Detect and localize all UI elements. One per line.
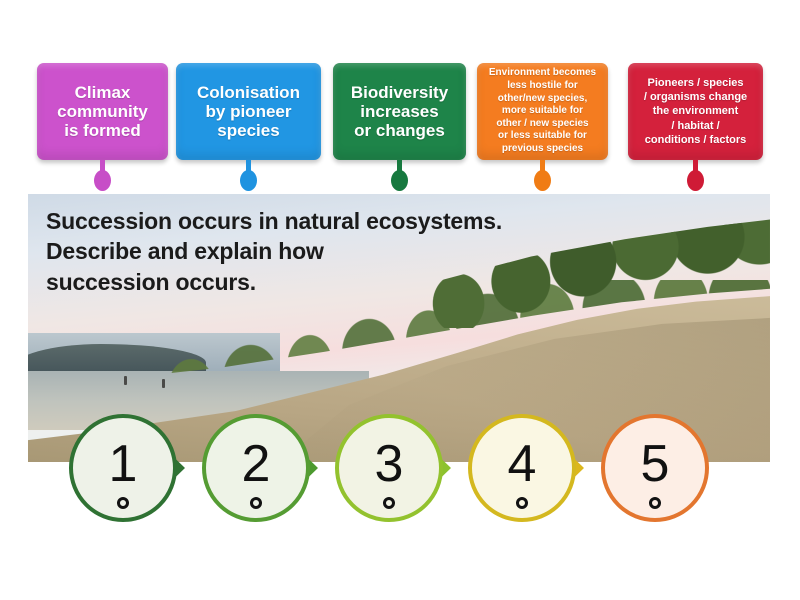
activity-stage: Succession occurs in natural ecosystems.…	[0, 0, 800, 600]
answer-marker-icon	[649, 497, 661, 509]
answer-marker-icon	[117, 497, 129, 509]
answer-marker-icon	[383, 497, 395, 509]
label-text: Climax community is formed	[43, 83, 162, 140]
drop-slot-2[interactable]: 2	[202, 414, 310, 522]
photo-person	[162, 379, 165, 388]
pin-head	[391, 170, 408, 191]
pin-head	[94, 170, 111, 191]
slot-number: 2	[242, 438, 271, 490]
drop-slot-4[interactable]: 4	[468, 414, 576, 522]
draggable-label-climax-community[interactable]: Climax community is formed	[37, 63, 168, 160]
draggable-label-pioneers-change-environment[interactable]: Pioneers / species / organisms change th…	[628, 63, 763, 160]
label-text: Environment becomes less hostile for oth…	[483, 67, 602, 155]
drop-slot-1[interactable]: 1	[69, 414, 177, 522]
question-text: Succession occurs in natural ecosystems.…	[46, 206, 476, 297]
slot-number: 3	[375, 438, 404, 490]
draggable-label-biodiversity-increases[interactable]: Biodiversity increases or changes	[333, 63, 466, 160]
slot-number: 5	[641, 438, 670, 490]
label-text: Biodiversity increases or changes	[339, 83, 460, 140]
answer-marker-icon	[250, 497, 262, 509]
question-line: Succession occurs in natural ecosystems.	[46, 206, 476, 236]
question-line: succession occurs.	[46, 267, 476, 297]
label-text: Colonisation by pioneer species	[182, 83, 315, 140]
photo-person	[124, 376, 127, 385]
drop-slot-5[interactable]: 5	[601, 414, 709, 522]
drop-slot-3[interactable]: 3	[335, 414, 443, 522]
pin-head	[534, 170, 551, 191]
pin-head	[687, 170, 704, 191]
question-line: Describe and explain how	[46, 236, 476, 266]
pin-head	[240, 170, 257, 191]
draggable-label-environment-less-hostile[interactable]: Environment becomes less hostile for oth…	[477, 63, 608, 160]
label-text: Pioneers / species / organisms change th…	[634, 76, 757, 147]
draggable-label-colonisation-pioneer[interactable]: Colonisation by pioneer species	[176, 63, 321, 160]
answer-marker-icon	[516, 497, 528, 509]
slot-number: 4	[508, 438, 537, 490]
slot-number: 1	[109, 438, 138, 490]
